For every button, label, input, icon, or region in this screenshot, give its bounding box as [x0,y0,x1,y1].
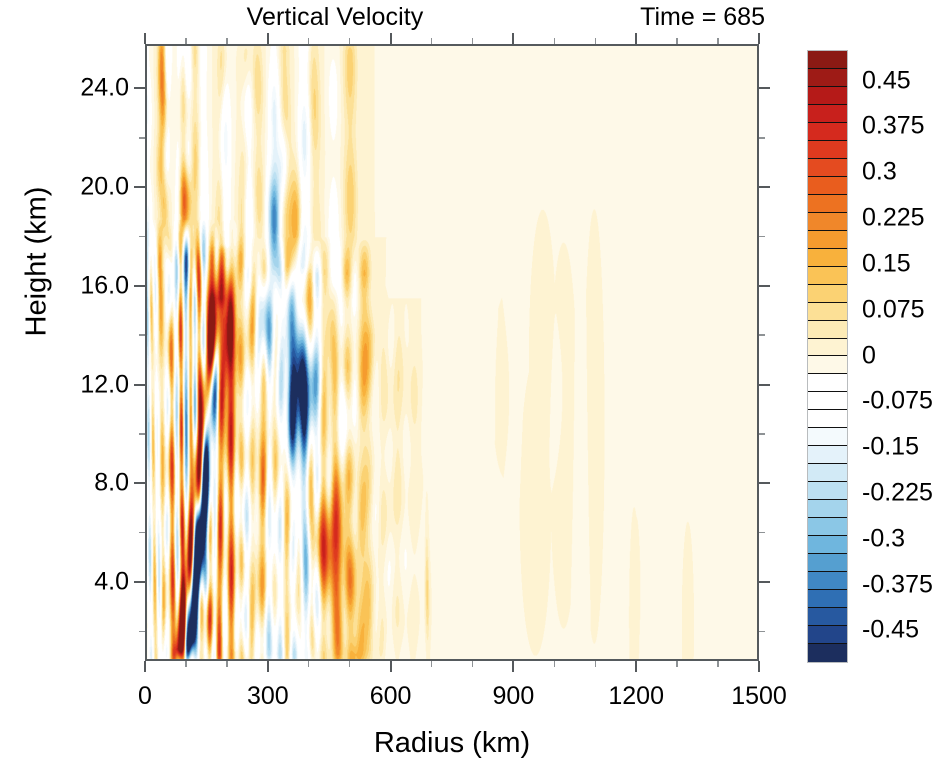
colorbar-cell [808,141,847,159]
x-tick-top-minor [349,38,351,44]
y-tick-right-minor [759,631,765,633]
x-tick-major [512,661,514,672]
colorbar-cell [808,464,847,482]
colorbar [807,50,848,663]
y-tick-minor [139,334,145,336]
colorbar-cell [808,518,847,536]
figure-root: Vertical Velocity Time = 685 03006009001… [0,0,935,774]
colorbar-cell [808,608,847,626]
x-tick-minor [431,661,433,667]
colorbar-cell [808,123,847,141]
colorbar-cell [808,177,847,195]
colorbar-cell [808,392,847,410]
colorbar-label: -0.45 [862,616,919,645]
y-tick-right-major [759,384,770,386]
x-tick-label: 1500 [731,682,787,711]
x-tick-label: 900 [493,682,535,711]
x-tick-top-minor [226,38,228,44]
x-tick-top-minor [431,38,433,44]
x-tick-major [144,661,146,672]
x-tick-major [267,661,269,672]
x-tick-top-minor [676,38,678,44]
y-tick-right-minor [759,532,765,534]
x-tick-minor [349,661,351,667]
colorbar-cell [808,267,847,285]
colorbar-cell [808,500,847,518]
colorbar-cell [808,195,847,213]
y-tick-major [134,87,145,89]
colorbar-label: 0.45 [862,66,911,95]
x-tick-label: 600 [370,682,412,711]
y-tick-right-minor [759,334,765,336]
colorbar-label: 0.3 [862,158,897,187]
colorbar-cell [808,321,847,339]
colorbar-cell [808,536,847,554]
colorbar-cell [808,572,847,590]
y-tick-major [134,482,145,484]
x-tick-top-major [267,33,269,44]
x-tick-top-minor [185,38,187,44]
x-axis-title: Radius (km) [145,727,759,760]
y-tick-major [134,186,145,188]
colorbar-cell [808,482,847,500]
x-tick-minor [554,661,556,667]
vertical-velocity-heatmap [147,46,757,659]
colorbar-cell [808,105,847,123]
colorbar-cell [808,249,847,267]
colorbar-label: 0.15 [862,249,911,278]
x-tick-major [758,661,760,672]
x-tick-minor [308,661,310,667]
x-tick-minor [717,661,719,667]
y-tick-label: 8.0 [17,469,129,498]
colorbar-cell [808,303,847,321]
y-tick-right-minor [759,236,765,238]
y-tick-right-minor [759,137,765,139]
x-tick-minor [226,661,228,667]
x-tick-top-major [758,33,760,44]
y-tick-right-major [759,186,770,188]
x-tick-top-minor [554,38,556,44]
y-tick-right-major [759,482,770,484]
x-tick-top-major [635,33,637,44]
x-tick-top-minor [595,38,597,44]
y-tick-major [134,581,145,583]
x-tick-label: 0 [138,682,152,711]
colorbar-cell [808,374,847,392]
y-tick-right-major [759,285,770,287]
y-tick-right-major [759,581,770,583]
colorbar-cell [808,554,847,572]
y-tick-right-major [759,87,770,89]
colorbar-cell [808,590,847,608]
x-tick-top-major [512,33,514,44]
y-tick-right-minor [759,433,765,435]
y-axis-title: Height (km) [21,117,54,407]
y-tick-major [134,384,145,386]
y-tick-minor [139,532,145,534]
colorbar-label: -0.225 [862,478,933,507]
y-tick-major [134,285,145,287]
colorbar-cell [808,339,847,357]
colorbar-label: 0.225 [862,204,925,233]
colorbar-cell [808,51,847,69]
colorbar-cell [808,87,847,105]
colorbar-label: -0.375 [862,570,933,599]
colorbar-label: -0.075 [862,387,933,416]
colorbar-label: -0.15 [862,433,919,462]
x-tick-minor [185,661,187,667]
colorbar-label: 0 [862,341,876,370]
y-tick-minor [139,433,145,435]
y-tick-minor [139,137,145,139]
x-tick-major [635,661,637,672]
plot-area [145,44,759,661]
colorbar-cell [808,410,847,428]
x-tick-top-minor [472,38,474,44]
plot-title: Vertical Velocity [145,0,525,34]
colorbar-cell [808,213,847,231]
time-annotation: Time = 685 [560,0,800,34]
colorbar-cell [808,446,847,464]
colorbar-cell [808,644,847,662]
colorbar-cell [808,69,847,87]
y-tick-label: 4.0 [17,568,129,597]
colorbar-label: 0.375 [862,112,925,141]
x-tick-minor [472,661,474,667]
colorbar-cell [808,356,847,374]
x-tick-label: 1200 [608,682,664,711]
y-tick-minor [139,631,145,633]
colorbar-label: 0.075 [862,295,925,324]
x-tick-top-minor [308,38,310,44]
x-tick-major [390,661,392,672]
colorbar-cell [808,285,847,303]
x-tick-minor [595,661,597,667]
colorbar-label: -0.3 [862,524,905,553]
x-tick-label: 300 [247,682,289,711]
x-tick-minor [676,661,678,667]
x-tick-top-major [144,33,146,44]
y-tick-label: 24.0 [17,74,129,103]
colorbar-cell [808,428,847,446]
y-tick-minor [139,236,145,238]
x-tick-top-minor [717,38,719,44]
colorbar-cell [808,626,847,644]
colorbar-cell [808,231,847,249]
colorbar-cell [808,159,847,177]
x-tick-top-major [390,33,392,44]
